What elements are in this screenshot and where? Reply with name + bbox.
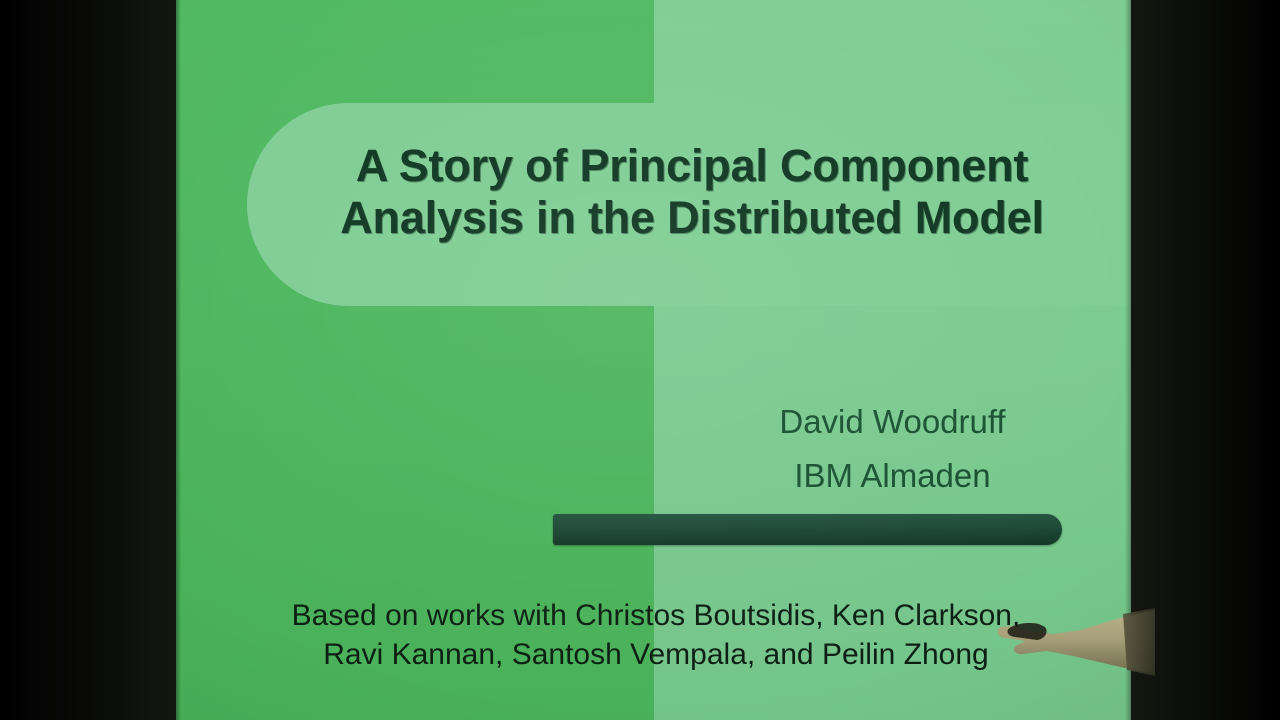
projector-capture-frame: A Story of Principal Component Analysis … bbox=[0, 0, 1280, 720]
acknowledgements-line-1: Based on works with Christos Boutsidis, … bbox=[216, 596, 1096, 635]
presenter-info: David Woodruff IBM Almaden bbox=[654, 395, 1131, 503]
presenter-affiliation: IBM Almaden bbox=[654, 449, 1131, 503]
presentation-slide: A Story of Principal Component Analysis … bbox=[176, 0, 1131, 720]
slide-title: A Story of Principal Component Analysis … bbox=[262, 140, 1122, 244]
accent-divider-bar bbox=[553, 514, 1062, 545]
room-darkness-right bbox=[1131, 0, 1280, 720]
slide-title-line-2: Analysis in the Distributed Model bbox=[262, 192, 1122, 244]
slide-title-line-1: A Story of Principal Component bbox=[262, 140, 1122, 192]
acknowledgements-line-2: Ravi Kannan, Santosh Vempala, and Peilin… bbox=[216, 635, 1096, 674]
acknowledgements: Based on works with Christos Boutsidis, … bbox=[216, 596, 1096, 674]
presenter-name: David Woodruff bbox=[654, 395, 1131, 449]
room-darkness-left bbox=[0, 0, 176, 720]
